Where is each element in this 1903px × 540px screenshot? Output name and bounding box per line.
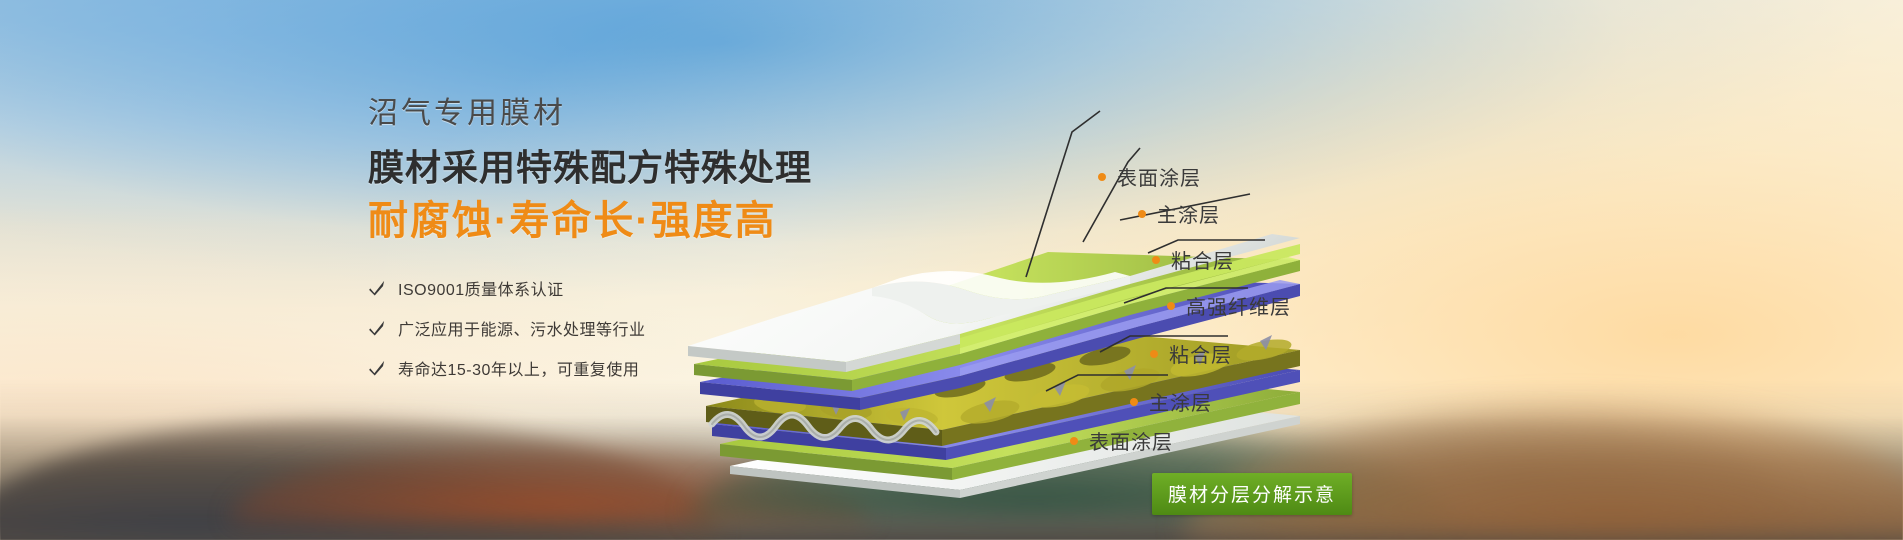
callout-label: 高强纤维层 — [1186, 291, 1291, 320]
callout-adhesive-top: 粘合层 — [1152, 245, 1234, 274]
callout-main-coating-top: 主涂层 — [1138, 199, 1220, 228]
list-item-label: 广泛应用于能源、污水处理等行业 — [398, 316, 646, 340]
callout-dot-icon — [1098, 173, 1106, 181]
callout-label: 表面涂层 — [1117, 162, 1201, 191]
callout-dot-icon — [1150, 350, 1158, 358]
headline-text: 膜材采用特殊配方特殊处理 — [368, 146, 888, 190]
callout-label: 主涂层 — [1157, 199, 1220, 228]
callout-surface-coating-top: 表面涂层 — [1098, 162, 1201, 191]
callout-high-strength-fiber: 高强纤维层 — [1167, 291, 1291, 320]
callout-main-coating-bottom: 主涂层 — [1130, 387, 1212, 416]
diagram-badge: 膜材分层分解示意 — [1152, 473, 1352, 515]
callout-dot-icon — [1138, 210, 1146, 218]
eyebrow-text: 沼气专用膜材 — [368, 96, 888, 132]
callout-dot-icon — [1152, 256, 1160, 264]
check-icon — [368, 359, 386, 377]
hero-banner: 沼气专用膜材 膜材采用特殊配方特殊处理 耐腐蚀·寿命长·强度高 ISO9001质… — [0, 0, 1903, 540]
callout-adhesive-bottom: 粘合层 — [1150, 339, 1232, 368]
callout-dot-icon — [1070, 437, 1078, 445]
check-icon — [368, 279, 386, 297]
callout-dot-icon — [1130, 398, 1138, 406]
callout-label: 主涂层 — [1149, 387, 1212, 416]
list-item-label: 寿命达15-30年以上，可重复使用 — [398, 356, 639, 380]
callout-label: 表面涂层 — [1089, 426, 1173, 455]
callout-dot-icon — [1167, 302, 1175, 310]
check-icon — [368, 319, 386, 337]
list-item-label: ISO9001质量体系认证 — [398, 276, 564, 300]
callout-label: 粘合层 — [1169, 339, 1232, 368]
callout-label: 粘合层 — [1171, 245, 1234, 274]
callout-list: 表面涂层 主涂层 粘合层 高强纤维层 粘合层 主涂层 表面涂层 — [1000, 60, 1900, 520]
callout-surface-coating-bottom: 表面涂层 — [1070, 426, 1173, 455]
